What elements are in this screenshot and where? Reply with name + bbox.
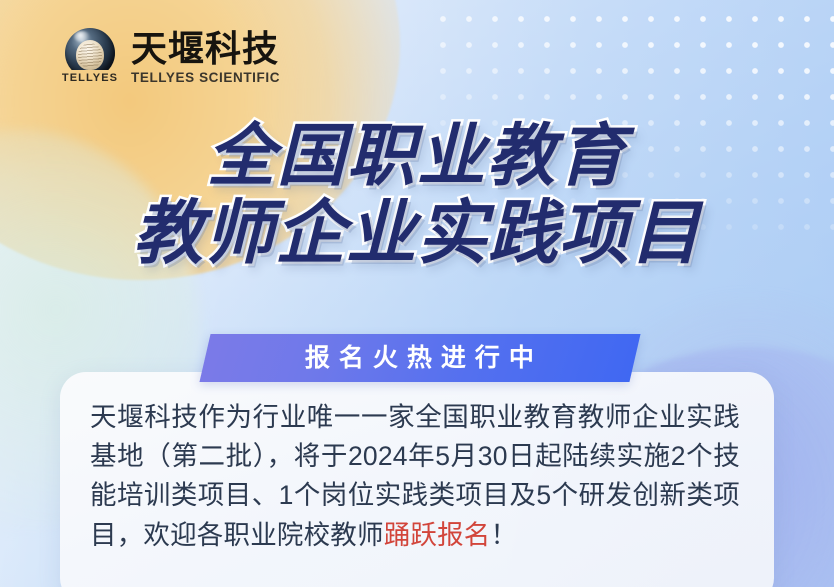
- headline-block: 全国职业教育 教师企业实践项目: [0, 120, 834, 272]
- registration-status-ribbon: 报名火热进行中: [199, 334, 640, 382]
- ribbon-label: 报名火热进行中: [296, 346, 543, 371]
- logo-wordmark: TELLYES: [62, 73, 118, 84]
- headline-line-2: 教师企业实践项目: [0, 195, 834, 272]
- logo-mark-group: TELLYES: [58, 28, 122, 84]
- announcement-text: 天堰科技作为行业唯一一家全国职业教育教师企业实践基地（第二批），将于2024年5…: [90, 398, 740, 555]
- brand-logo-lockup: TELLYES 天堰科技 TELLYES SCIENTIFIC: [58, 28, 280, 84]
- announcement-highlight: 踊跃报名: [384, 520, 491, 550]
- logo-highlight-glint: [74, 31, 90, 42]
- logo-inner-pearl: [76, 40, 104, 70]
- announcement-text-part-2: ！: [491, 520, 518, 550]
- brand-name-english: TELLYES SCIENTIFIC: [131, 71, 280, 85]
- headline-line-1: 全国职业教育: [0, 120, 834, 195]
- brand-name-group: 天堰科技 TELLYES SCIENTIFIC: [131, 30, 280, 84]
- promo-poster: TELLYES 天堰科技 TELLYES SCIENTIFIC 全国职业教育 教…: [0, 0, 834, 587]
- tellyes-globe-logo-icon: [63, 28, 117, 70]
- announcement-card: 天堰科技作为行业唯一一家全国职业教育教师企业实践基地（第二批），将于2024年5…: [60, 372, 774, 587]
- brand-name-chinese: 天堰科技: [131, 30, 280, 69]
